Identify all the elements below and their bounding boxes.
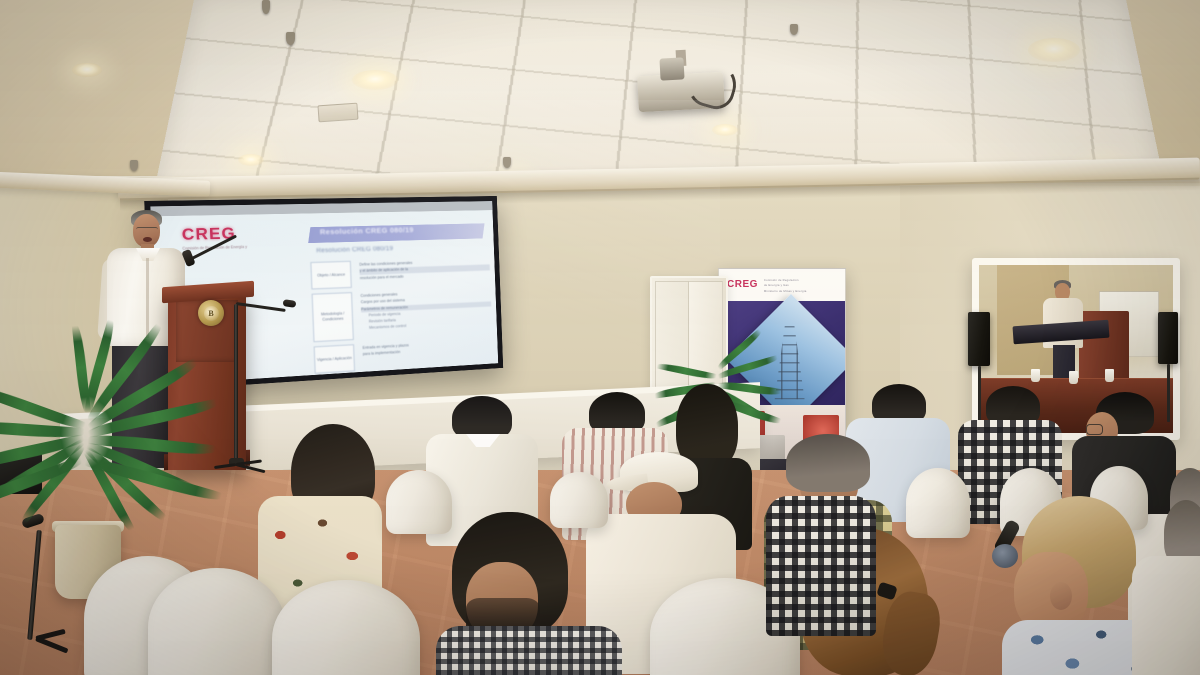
slide-row-body: Entrada en vigencia y plazos para la imp…	[359, 336, 496, 371]
pa-speaker-stand	[978, 366, 981, 426]
pa-speaker-stand	[1167, 364, 1170, 422]
pa-speaker	[1158, 312, 1178, 364]
projector-lens-icon	[659, 57, 684, 80]
mic-stand-pole[interactable]	[234, 304, 238, 462]
paper-cup	[1031, 369, 1040, 382]
banner-creg-logo: CREG	[727, 280, 758, 290]
audience-torso	[436, 626, 622, 675]
slide-row-body: Define las condiciones generales y el ám…	[356, 256, 493, 287]
slide-top-bar	[150, 201, 492, 216]
banquet-chair[interactable]	[550, 472, 608, 528]
slide-creg-logo: CREG Comisión de Regulación de Energía y…	[182, 225, 256, 257]
sprinkler-head-icon	[790, 24, 798, 35]
banner-header: CREG Comisión de Regulación de Energía y…	[719, 269, 845, 301]
ceiling-vent	[317, 103, 358, 123]
conference-room-photo: CREG Comisión de Regulación de Energía y…	[0, 0, 1200, 675]
sprinkler-head-icon	[130, 160, 138, 171]
ceiling-downlight	[1028, 38, 1080, 62]
slide-row-label: Objeto / Alcance	[310, 261, 352, 290]
sprinkler-head-icon	[286, 32, 295, 45]
slide-row: Metodología / Condiciones Condiciones ge…	[312, 286, 496, 342]
podium-crest-letter: B	[204, 306, 219, 321]
slide-row-label: Vigencia / Aplicación	[314, 344, 355, 374]
slide-subtitle: Resolución CREG 080/19	[316, 243, 485, 254]
ceiling-downlight	[72, 63, 102, 77]
slide-row-label: Metodología / Condiciones	[312, 292, 354, 342]
slide-row: Vigencia / Aplicación Entrada en vigenci…	[314, 336, 497, 374]
ear	[1050, 582, 1072, 610]
banquet-chair[interactable]	[386, 470, 452, 534]
sprinkler-head-icon	[262, 0, 270, 14]
podium-crest-icon: B	[198, 300, 224, 326]
ceiling-downlight	[712, 124, 738, 136]
microphone-windscreen	[992, 544, 1018, 568]
paper-cup	[1105, 369, 1114, 382]
slide-logo-text: CREG	[182, 225, 255, 243]
slide-table: Objeto / Alcance Define las condiciones …	[310, 256, 496, 378]
presenter-mouth	[143, 237, 152, 242]
presenter-glasses-icon	[136, 227, 158, 232]
slide-row: Objeto / Alcance Define las condiciones …	[310, 256, 493, 289]
slide-row-body: Condiciones generales Cargos por uso del…	[357, 286, 495, 339]
eyeglasses-icon	[1086, 424, 1103, 435]
banner-header-text: Comisión de Regulación de Energía y Gas …	[764, 278, 837, 293]
ceiling-downlight	[352, 70, 398, 90]
presenter-shirt-placket	[146, 258, 149, 338]
audience-torso	[1132, 556, 1200, 675]
banner-header-line: Ministerio de Minas y Energía	[764, 289, 837, 293]
ceiling-downlight	[238, 154, 264, 166]
banner-header-line: de Energía y Gas	[764, 283, 837, 287]
audience-torso	[766, 496, 876, 636]
pa-speaker	[968, 312, 990, 366]
banquet-chair[interactable]	[906, 468, 970, 538]
banner-header-line: Comisión de Regulación	[764, 278, 837, 282]
sprinkler-head-icon	[503, 157, 511, 168]
audience-head-hair	[786, 434, 870, 492]
paper-cup	[1069, 371, 1078, 384]
potted-palm-left-foliage	[0, 330, 220, 540]
